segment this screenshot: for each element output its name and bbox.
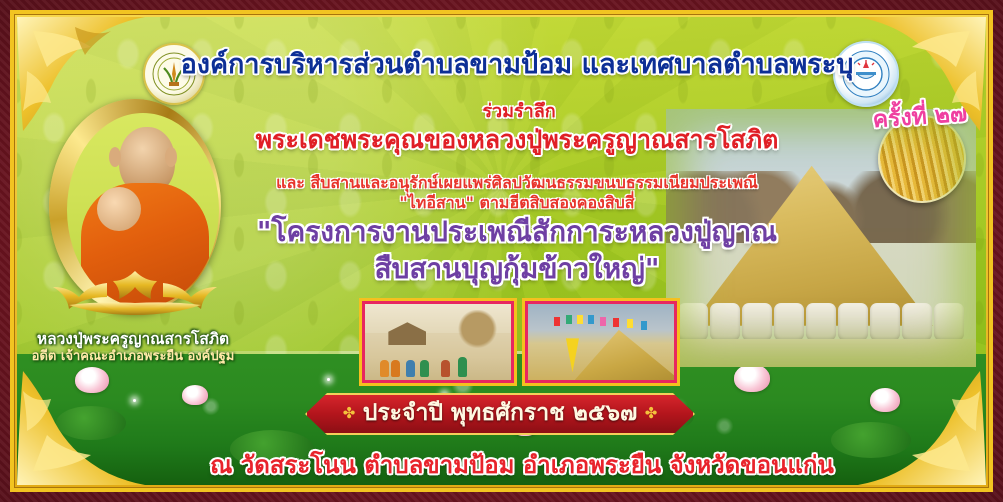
festival-scene	[528, 304, 674, 380]
lotus-flower	[75, 367, 109, 393]
monk-shoulder	[97, 187, 141, 231]
venue-text: ณ วัดสระโนน ตำบลขามป้อม อำเภอพระยืน จังห…	[127, 453, 917, 478]
festival-rice-photo	[525, 301, 677, 383]
mural-tree	[456, 310, 500, 357]
festival-flag	[577, 315, 583, 324]
festival-flag	[627, 319, 633, 328]
festival-flag	[600, 317, 606, 326]
lotus-flower	[734, 364, 770, 392]
mural-figure	[406, 360, 415, 377]
project-title-line-2: สืบสานบุญกุ้มข้าวใหญ่"	[202, 254, 832, 283]
festival-rice-mound	[575, 330, 677, 380]
festival-flag	[588, 315, 594, 324]
purpose-line-1: และ สืบสานและอนุรักษ์เผยแพร่ศิลปวัฒนธรรม…	[207, 175, 827, 192]
lotus-flower	[870, 388, 900, 412]
purpose-line-2: "ไทอีสาน" ตามฮีตสิบสองคองสิบสี่	[207, 195, 827, 212]
festival-flag-line	[554, 315, 668, 335]
festival-flag	[613, 318, 619, 327]
honoree-title: พระเดชพระคุณของหลวงปู่พระครูญาณสารโสภิต	[187, 127, 847, 153]
mural-figure	[458, 357, 467, 377]
commemorate-label: ร่วมรำลึก	[369, 103, 669, 122]
lotus-pad	[56, 406, 126, 440]
sparkle	[133, 399, 136, 402]
event-banner: องค์การบริหารส่วนตำบลขามป้อม และเทศบาลตำ…	[0, 0, 1003, 502]
mural-figure	[420, 360, 429, 377]
festival-flag	[554, 317, 560, 326]
festival-yellow-banner	[566, 338, 579, 372]
festival-flag	[566, 315, 572, 324]
organizations-title: องค์การบริหารส่วนตำบลขามป้อม และเทศบาลตำ…	[167, 51, 867, 79]
portrait-caption-name: หลวงปู่พระครูญาณสารโสภิต	[17, 331, 249, 347]
festival-flag	[641, 321, 647, 330]
mural-figure	[380, 360, 389, 377]
project-title-line-1: "โครงการงานประเพณีสักการะหลวงปู่ญาณ	[202, 217, 832, 246]
sparkle	[327, 378, 330, 381]
mural-painting-photo	[362, 301, 514, 383]
portrait-kanok-ornament	[47, 265, 223, 319]
mural-scene	[365, 304, 511, 380]
year-text: ประจำปี พุทธศักราช ๒๕๖๗	[305, 401, 695, 425]
monk-ear	[165, 147, 177, 167]
mural-figure	[441, 360, 450, 377]
portrait-caption-title: อดีต เจ้าคณะอำเภอพระยืน องค์ปฐม	[17, 350, 249, 364]
mural-figure	[391, 360, 400, 377]
monk-ear	[109, 147, 121, 167]
lotus-flower	[182, 385, 208, 405]
banner-canvas: องค์การบริหารส่วนตำบลขามป้อม และเทศบาลตำ…	[17, 17, 986, 485]
